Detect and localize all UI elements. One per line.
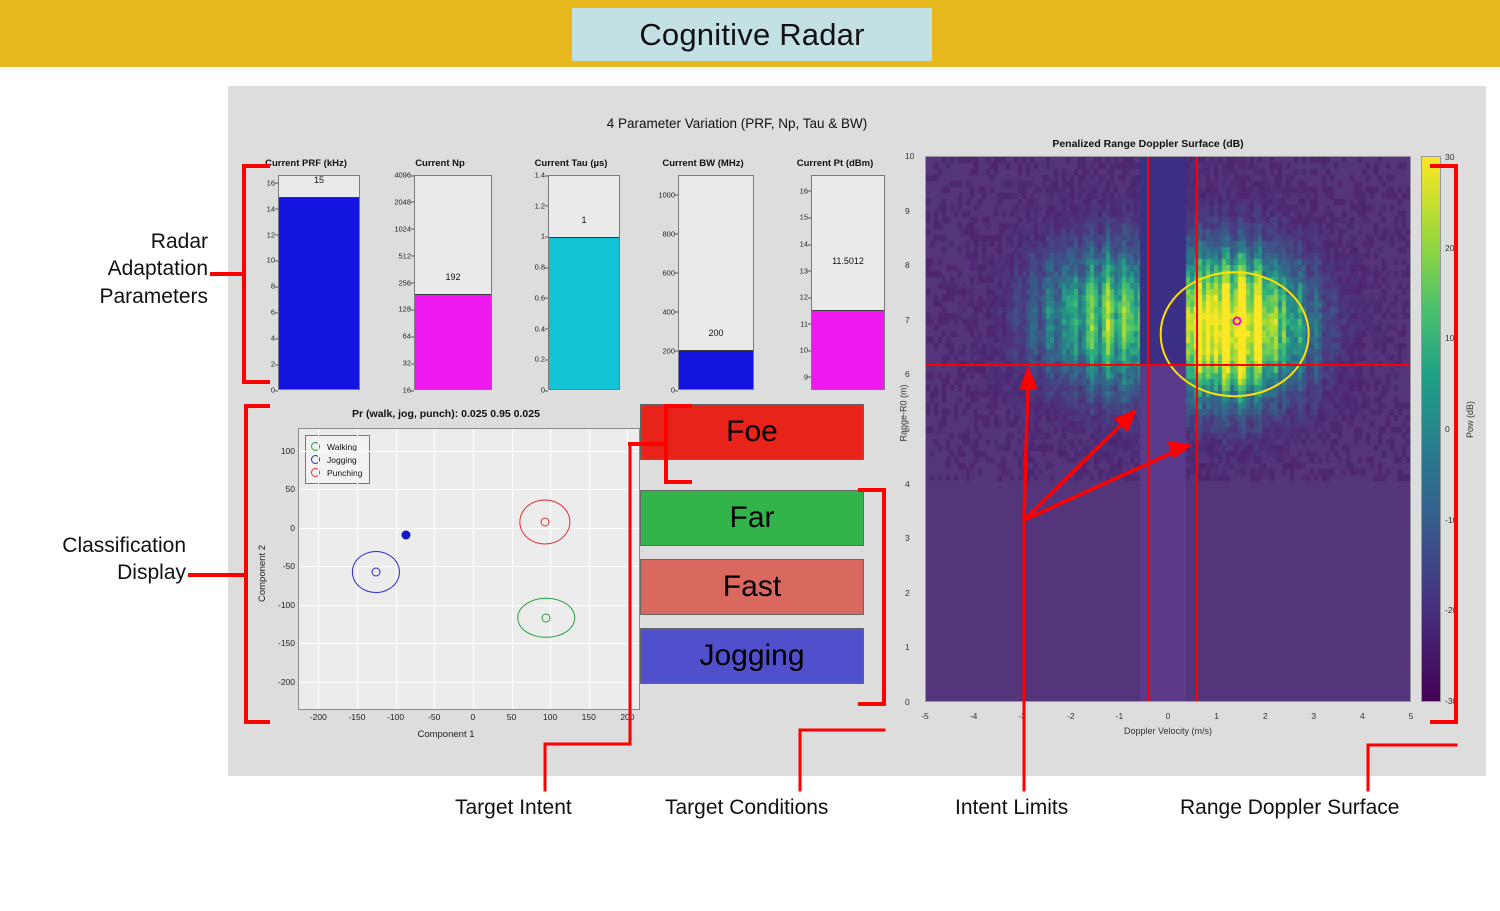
heatmap-x-tick: 5	[1409, 711, 1414, 721]
scatter-x-tick: -150	[348, 712, 365, 722]
gauge-tau-title: Current Tau (µs)	[522, 158, 620, 169]
annotation-target-intent: Target Intent	[455, 796, 572, 820]
gauge-prf-body: 161412108642015	[252, 175, 360, 390]
gauge-pt-fill	[812, 310, 884, 389]
gauge-pt: Current Pt (dBm)16151413121110911.5012	[785, 158, 885, 390]
gauge-tick: 9	[804, 372, 808, 381]
page-title: Cognitive Radar	[639, 17, 864, 53]
gauge-np: Current Np409620481024512256128643216192	[388, 158, 492, 390]
gauge-tick: 11	[800, 319, 808, 328]
scatter-x-tick: 200	[620, 712, 634, 722]
gauge-tick: 16	[267, 178, 275, 187]
gauge-tick: 0.2	[535, 355, 545, 364]
scatter-y-tick: 0	[290, 523, 295, 533]
panel-title: 4 Parameter Variation (PRF, Np, Tau & BW…	[108, 116, 1366, 131]
scatter-gridline-v	[589, 429, 590, 709]
intent-limit-velocity-line-1	[1147, 157, 1149, 701]
heatmap-x-tick: 4	[1360, 711, 1365, 721]
heatmap-x-tick: 3	[1311, 711, 1316, 721]
anno-line: Classification	[10, 532, 186, 559]
colorbar-tick: 30	[1445, 152, 1454, 162]
annotation-range-doppler-surface: Range Doppler Surface	[1180, 796, 1399, 820]
scatter-gridline-h	[299, 451, 639, 452]
scatter-gridline-h	[299, 605, 639, 606]
scatter-gridline-v	[550, 429, 551, 709]
gauge-tick: 6	[271, 308, 275, 317]
gauge-tick: 1000	[658, 190, 675, 199]
gauge-tick: 4096	[394, 171, 411, 180]
gauge-tick: 16	[800, 186, 808, 195]
scatter-x-tick: 150	[582, 712, 596, 722]
scatter-legend: WalkingJoggingPunching	[305, 435, 370, 484]
gauge-np-fill	[415, 294, 491, 389]
gauge-tick: 12	[800, 293, 808, 302]
cluster-center-jogging	[371, 567, 380, 576]
annotation-intent-limits: Intent Limits	[955, 796, 1068, 820]
gauge-prf-axes[interactable]: 15	[278, 175, 360, 390]
gauge-bw-title: Current BW (MHz)	[652, 158, 754, 169]
gauge-pt-ticks: 161514131211109	[785, 175, 811, 390]
gauge-tau-axes[interactable]: 1	[548, 175, 620, 390]
colorbar-gradient	[1422, 157, 1440, 701]
heatmap-x-tick: 1	[1214, 711, 1219, 721]
gauge-tick: 800	[662, 229, 675, 238]
gauge-bw-value: 200	[679, 328, 753, 339]
heatmap-x-axis-label: Doppler Velocity (m/s)	[925, 726, 1411, 736]
gauge-np-axes[interactable]: 192	[414, 175, 492, 390]
scatter-gridline-h	[299, 489, 639, 490]
colorbar-tick: 0	[1445, 424, 1450, 434]
gauge-tick: 15	[800, 213, 808, 222]
classification-scatter-plot: Pr (walk, jog, punch): 0.025 0.95 0.025 …	[246, 408, 646, 740]
colorbar-tick: -30	[1445, 696, 1457, 706]
gauge-tick: 1.4	[535, 171, 545, 180]
scatter-gridline-h	[299, 528, 639, 529]
scatter-x-tick: -200	[310, 712, 327, 722]
gauge-prf: Current PRF (kHz)161412108642015	[252, 158, 360, 390]
gauge-tau-ticks: 1.41.210.80.60.40.20	[522, 175, 548, 390]
target-condition-far-button[interactable]: Far	[640, 490, 864, 546]
annotation-target-conditions: Target Conditions	[665, 796, 828, 820]
gauge-tick: 12	[267, 230, 275, 239]
app-title-box: Cognitive Radar	[572, 8, 932, 61]
scatter-x-tick: -50	[428, 712, 440, 722]
anno-line: Display	[10, 559, 186, 586]
heatmap-x-tick: -1	[1116, 711, 1124, 721]
colorbar-tick: -10	[1445, 515, 1457, 525]
radar-parameter-gauges: Current PRF (kHz)161412108642015Current …	[240, 158, 900, 390]
gauge-tau: Current Tau (µs)1.41.210.80.60.40.201	[522, 158, 620, 390]
scatter-y-tick: -150	[278, 638, 295, 648]
heatmap-x-tick: -2	[1067, 711, 1075, 721]
gauge-tick: 128	[398, 305, 411, 314]
heatmap-x-tick: -4	[970, 711, 978, 721]
gauge-tick: 14	[800, 240, 808, 249]
anno-line: Parameters	[20, 283, 208, 310]
gauge-tick: 4	[271, 334, 275, 343]
colorbar-tick: 20	[1445, 243, 1454, 253]
gauge-np-body: 409620481024512256128643216192	[388, 175, 492, 390]
gauge-tau-fill	[549, 237, 619, 389]
scatter-x-tick: -100	[387, 712, 404, 722]
gauge-pt-axes[interactable]: 11.5012	[811, 175, 885, 390]
gauge-bw-body: 10008006004002000200	[652, 175, 754, 390]
target-condition-fast-button[interactable]: Fast	[640, 559, 864, 615]
colorbar-label: Pow (dB)	[1465, 401, 1475, 438]
gauge-tick: 256	[398, 278, 411, 287]
scatter-x-axis-label: Component 1	[246, 729, 646, 740]
range-doppler-surface-canvas	[926, 157, 1411, 702]
gauge-tau-body: 1.41.210.80.60.40.201	[522, 175, 620, 390]
scatter-gridline-v	[318, 429, 319, 709]
cluster-center-punching	[540, 518, 549, 527]
gauge-tick: 1.2	[535, 201, 545, 210]
anno-line: Adaptation	[20, 255, 208, 282]
colorbar-tick: 10	[1445, 333, 1454, 343]
gauge-tick: 16	[403, 386, 411, 395]
gauge-tick: 10	[267, 256, 275, 265]
scatter-gridline-h	[299, 682, 639, 683]
gauge-tick: 1	[541, 232, 545, 241]
scatter-y-axis-label: Component 2	[257, 545, 268, 602]
gauge-tick: 2	[271, 360, 275, 369]
gauge-prf-value: 15	[279, 175, 359, 186]
heatmap-title: Penalized Range Doppler Surface (dB)	[883, 138, 1413, 150]
gauge-tick: 400	[662, 307, 675, 316]
gauge-pt-value: 11.5012	[812, 256, 884, 267]
gauge-tick: 10	[800, 346, 808, 355]
scatter-y-tick: -200	[278, 677, 295, 687]
dashboard-panel: 4 Parameter Variation (PRF, Np, Tau & BW…	[228, 86, 1486, 776]
scatter-y-tick: -50	[283, 561, 295, 571]
gauge-tick: 0.8	[535, 263, 545, 272]
gauge-tick: 600	[662, 268, 675, 277]
gauge-tick: 13	[800, 266, 808, 275]
gauge-prf-title: Current PRF (kHz)	[252, 158, 360, 169]
gauge-tick: 8	[271, 282, 275, 291]
gauge-tau-value: 1	[549, 215, 619, 226]
gauge-prf-fill	[279, 197, 359, 389]
scatter-x-tick: 0	[470, 712, 475, 722]
gauge-tick: 512	[398, 251, 411, 260]
gauge-tick: 0	[671, 386, 675, 395]
scatter-x-tick: 50	[507, 712, 516, 722]
anno-line: Radar	[20, 228, 208, 255]
gauge-tick: 0.4	[535, 324, 545, 333]
gauge-tick: 0	[541, 386, 545, 395]
heatmap-colorbar: 3020100-10-20-30	[1421, 156, 1441, 702]
cluster-center-walking	[542, 613, 551, 622]
gauge-bw: Current BW (MHz)10008006004002000200	[652, 158, 754, 390]
gauge-tick: 64	[403, 332, 411, 341]
gauge-pt-title: Current Pt (dBm)	[785, 158, 885, 169]
current-observation-point	[402, 530, 411, 539]
gauge-np-title: Current Np	[388, 158, 492, 169]
scatter-gridline-h	[299, 643, 639, 644]
gauge-tick: 200	[662, 346, 675, 355]
scatter-gridline-v	[473, 429, 474, 709]
gauge-np-value: 192	[415, 272, 491, 283]
gauge-tick: 0.6	[535, 293, 545, 302]
scatter-y-tick: 100	[281, 446, 295, 456]
target-intent-button[interactable]: Foe	[640, 404, 864, 460]
gauge-prf-ticks: 1614121086420	[252, 175, 278, 390]
annotation-classification-display: Classification Display	[10, 532, 186, 587]
gauge-tick: 14	[267, 204, 275, 213]
gauge-tick: 2048	[394, 197, 411, 206]
gauge-bw-fill	[679, 350, 753, 389]
gauge-pt-body: 16151413121110911.5012	[785, 175, 885, 390]
scatter-plot-area[interactable]: WalkingJoggingPunching -200-150-100-5005…	[298, 428, 640, 710]
scatter-x-tick: 100	[543, 712, 557, 722]
colorbar-tick: -20	[1445, 605, 1457, 615]
heatmap-plot-area[interactable]	[925, 156, 1411, 702]
scatter-gridline-v	[627, 429, 628, 709]
scatter-y-tick: 50	[286, 484, 295, 494]
scatter-title: Pr (walk, jog, punch): 0.025 0.95 0.025	[246, 408, 646, 420]
heatmap-x-tick: -5	[921, 711, 929, 721]
heatmap-x-tick: 0	[1166, 711, 1171, 721]
scatter-gridline-v	[512, 429, 513, 709]
annotation-radar-adaptation-parameters: Radar Adaptation Parameters	[20, 228, 208, 310]
target-condition-jogging-button[interactable]: Jogging	[640, 628, 864, 684]
range-doppler-heatmap: Penalized Range Doppler Surface (dB) Ran…	[883, 138, 1473, 758]
gauge-np-ticks: 409620481024512256128643216	[388, 175, 414, 390]
gauge-bw-axes[interactable]: 200	[678, 175, 754, 390]
gauge-tick: 1024	[394, 224, 411, 233]
gauge-tick: 32	[403, 359, 411, 368]
legend-label: Jogging	[327, 455, 357, 465]
scatter-gridline-h	[299, 566, 639, 567]
scatter-y-tick: -100	[278, 600, 295, 610]
detection-ellipse	[1159, 272, 1310, 398]
gauge-tick: 0	[271, 386, 275, 395]
intent-limit-velocity-line-2	[1196, 157, 1198, 701]
gauge-bw-ticks: 10008006004002000	[652, 175, 678, 390]
detection-marker	[1233, 316, 1242, 325]
heatmap-x-tick: 2	[1263, 711, 1268, 721]
scatter-gridline-v	[434, 429, 435, 709]
heatmap-x-tick: -3	[1018, 711, 1026, 721]
intent-limit-range-line	[926, 364, 1410, 366]
